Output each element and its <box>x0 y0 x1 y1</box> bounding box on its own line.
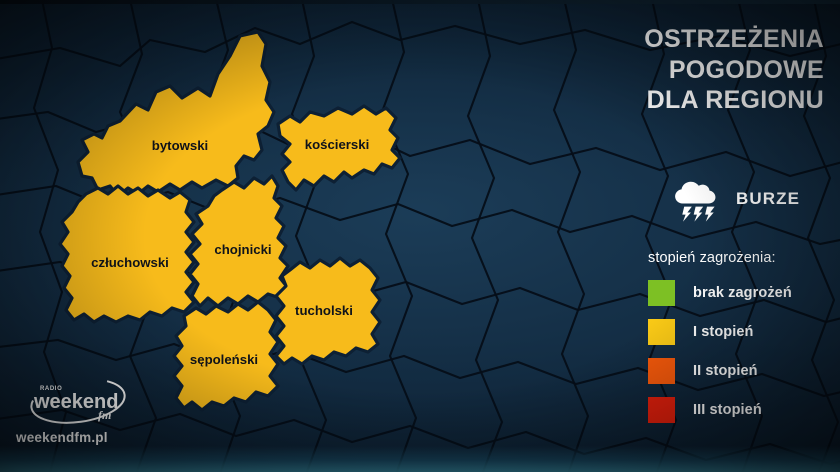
county-shape-chojnicki[interactable] <box>190 176 288 306</box>
legend-label-brak-zagrozen: brak zagrożeń <box>693 285 792 301</box>
county-label-czluchowski: człuchowski <box>91 255 169 270</box>
legend-swatch-orange <box>648 358 675 384</box>
weather-warning-graphic: bytowski kościerski chojnicki człuchowsk… <box>0 0 840 472</box>
legend-swatch-red <box>648 397 675 423</box>
website-url[interactable]: weekendfm.pl <box>16 430 108 445</box>
legend-title: stopień zagrożenia: <box>648 250 838 266</box>
legend: stopień zagrożenia: brak zagrożeń I stop… <box>648 250 838 436</box>
radio-weekend-fm-logo[interactable]: RADIO weekend fm <box>14 376 142 426</box>
title-line-2: POGODOWE <box>394 55 824 86</box>
legend-row-stopien-3[interactable]: III stopień <box>648 397 838 423</box>
county-label-koscierski: kościerski <box>305 137 370 152</box>
county-shape-czluchowski[interactable] <box>60 186 194 322</box>
legend-row-stopien-1[interactable]: I stopień <box>648 319 838 345</box>
legend-label-stopien-2: II stopień <box>693 363 758 379</box>
title-line-3: DLA REGIONU <box>394 85 824 116</box>
title-line-1: OSTRZEŻENIA <box>394 24 824 55</box>
bottom-edge-glow <box>0 446 840 472</box>
legend-row-stopien-2[interactable]: II stopień <box>648 358 838 384</box>
logo-fm-text: fm <box>98 408 111 422</box>
county-label-tucholski: tucholski <box>295 303 353 318</box>
legend-swatch-yellow <box>648 319 675 345</box>
legend-swatch-green <box>648 280 675 306</box>
page-title: OSTRZEŻENIA POGODOWE DLA REGIONU <box>394 24 824 116</box>
thunderstorm-cloud-icon <box>668 176 722 222</box>
legend-label-stopien-1: I stopień <box>693 324 754 340</box>
county-shape-bytowski[interactable] <box>78 32 274 196</box>
county-label-sepolenski: sępoleński <box>190 352 258 367</box>
alert-type-label: BURZE <box>736 189 800 209</box>
alert-type-row: BURZE <box>668 176 800 222</box>
legend-row-brak-zagrozen[interactable]: brak zagrożeń <box>648 280 838 306</box>
legend-label-stopien-3: III stopień <box>693 402 762 418</box>
county-label-chojnicki: chojnicki <box>214 242 271 257</box>
county-label-bytowski: bytowski <box>152 138 208 153</box>
top-edge-strip <box>0 0 840 4</box>
